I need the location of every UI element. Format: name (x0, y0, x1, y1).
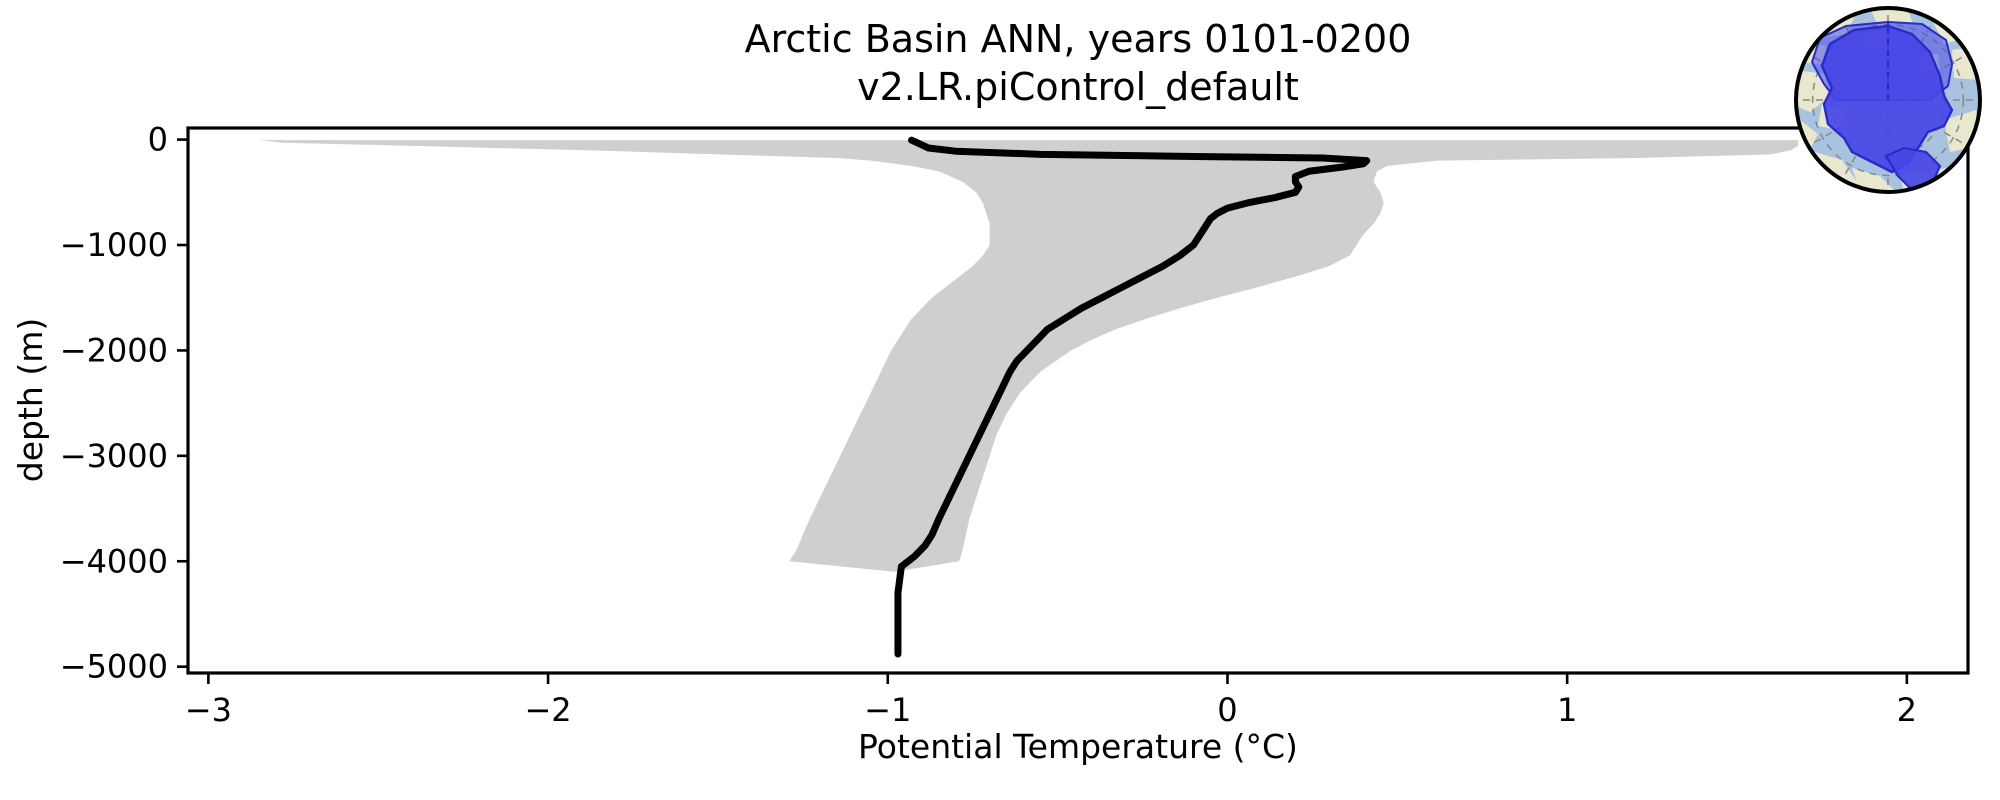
x-axis-ticks: −3−2−1012 (185, 673, 1917, 729)
y-tick-label: −2000 (60, 331, 168, 369)
x-axis-label: Potential Temperature (°C) (858, 727, 1298, 766)
y-tick-label: −1000 (60, 226, 168, 264)
range-band (259, 140, 1798, 572)
x-tick-label: −1 (864, 691, 911, 729)
figure-canvas: Arctic Basin ANN, years 0101-0200 v2.LR.… (0, 0, 2000, 800)
y-axis-label: depth (m) (11, 318, 50, 482)
x-tick-label: −3 (185, 691, 232, 729)
y-axis-ticks: 0−1000−2000−3000−4000−5000 (60, 121, 188, 686)
plot-title-line-1: Arctic Basin ANN, years 0101-0200 (745, 17, 1412, 61)
y-tick-label: 0 (148, 121, 168, 159)
arctic-basin-locator-map (1790, 2, 1980, 196)
x-tick-label: 0 (1217, 691, 1237, 729)
potential-temperature-depth-plot: Arctic Basin ANN, years 0101-0200 v2.LR.… (0, 0, 2000, 800)
plot-title-line-2: v2.LR.piControl_default (857, 65, 1299, 109)
x-tick-label: 2 (1897, 691, 1917, 729)
y-tick-label: −5000 (60, 648, 168, 686)
y-tick-label: −4000 (60, 542, 168, 580)
x-tick-label: 1 (1557, 691, 1577, 729)
x-tick-label: −2 (524, 691, 571, 729)
y-tick-label: −3000 (60, 437, 168, 475)
